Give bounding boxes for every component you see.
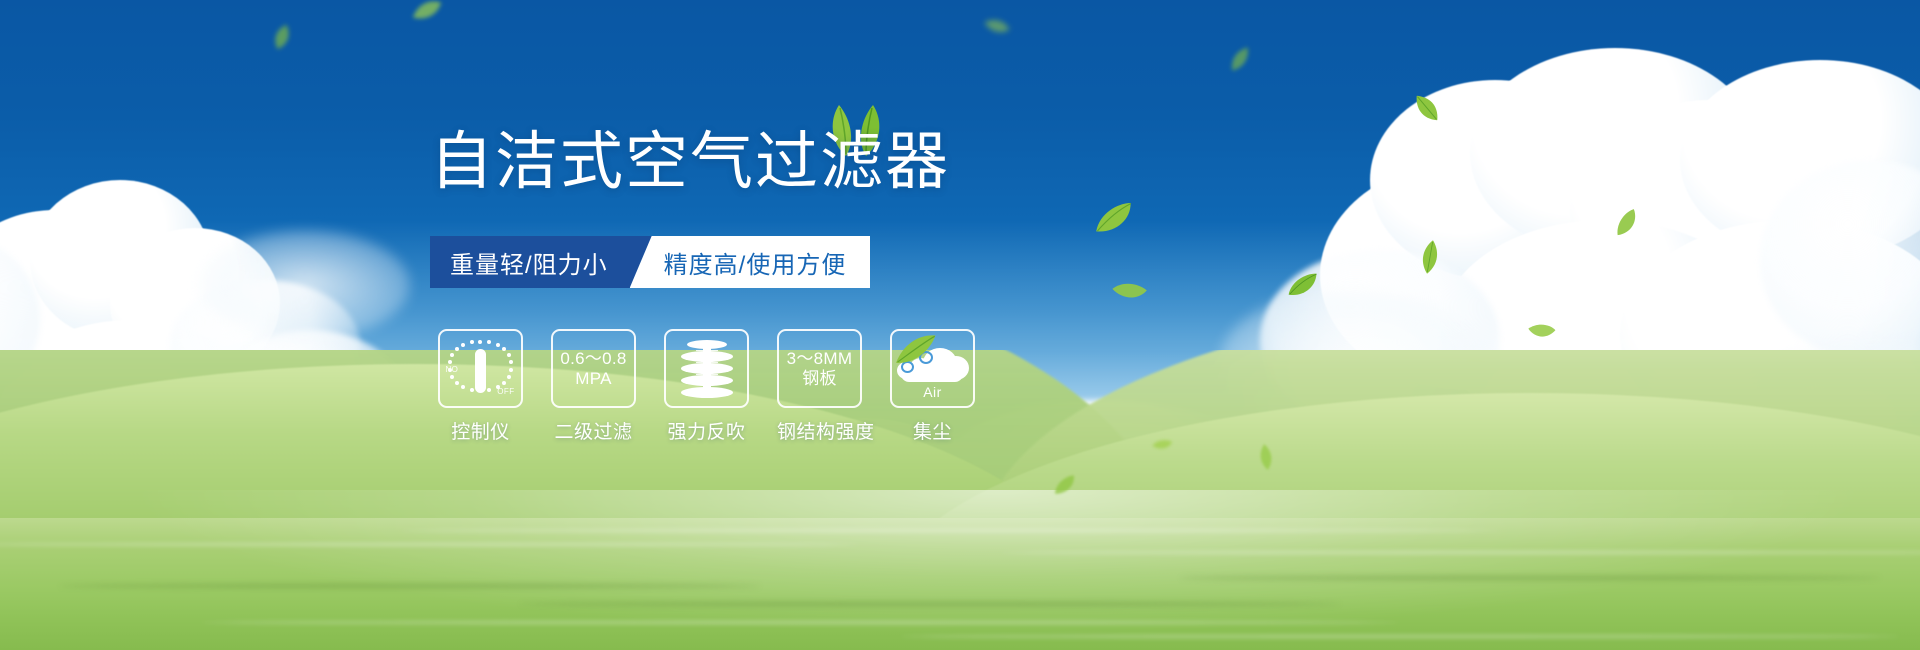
banner-content: 自洁式空气过滤器 重量轻/阻力小 精度高/使用方便 — [0, 0, 1920, 650]
subtitle-pill-secondary[interactable]: 精度高/使用方便 — [630, 236, 871, 288]
gauge-label-off: OFF — [497, 387, 514, 396]
feature-box-control: NO OFF — [438, 329, 523, 408]
steel-plate-text-icon: 3～8MM 钢板 — [787, 349, 853, 388]
feature-box-blowback — [664, 329, 749, 408]
feature-caption-control: 控制仪 — [438, 417, 523, 444]
banner-stage: 自洁式空气过滤器 重量轻/阻力小 精度高/使用方便 — [0, 0, 1920, 650]
steel-line-2: 钢板 — [787, 369, 853, 389]
gauge-label-no: NO — [446, 365, 459, 374]
subtitle-pill-secondary-label: 精度高/使用方便 — [664, 245, 847, 280]
filter-coil-icon — [679, 338, 735, 400]
feature-item-control[interactable]: NO OFF 控制仪 — [438, 329, 523, 444]
feature-caption-dust: 集尘 — [890, 417, 975, 444]
pressure-line-1: 0.6～0.8 — [560, 349, 626, 369]
gauge-dial-icon: NO OFF — [447, 338, 515, 400]
feature-item-dust[interactable]: Air 集尘 — [890, 329, 975, 444]
feature-caption-pressure: 二级过滤 — [551, 417, 636, 444]
feature-item-steel[interactable]: 3～8MM 钢板 钢结构强度 — [777, 329, 862, 444]
feature-box-dust: Air — [890, 329, 975, 408]
subtitle-pill-group: 重量轻/阻力小 精度高/使用方便 — [430, 236, 870, 288]
pressure-text-icon: 0.6～0.8 MPA — [560, 349, 626, 388]
steel-line-1: 3～8MM — [787, 349, 853, 369]
feature-item-blowback[interactable]: 强力反吹 — [664, 329, 749, 444]
air-label: Air — [895, 384, 971, 400]
feature-list: NO OFF 控制仪 0.6～0.8 MPA 二级过滤 — [438, 329, 975, 444]
gauge-needle — [475, 349, 486, 393]
feature-box-steel: 3～8MM 钢板 — [777, 329, 862, 408]
pressure-line-2: MPA — [560, 369, 626, 389]
air-leaf-icon — [893, 334, 937, 366]
page-title: 自洁式空气过滤器 — [430, 131, 950, 194]
subtitle-pill-primary[interactable]: 重量轻/阻力小 — [430, 236, 652, 288]
feature-item-pressure[interactable]: 0.6～0.8 MPA 二级过滤 — [551, 329, 636, 444]
feature-caption-steel: 钢结构强度 — [777, 417, 862, 444]
subtitle-pill-primary-label: 重量轻/阻力小 — [450, 245, 608, 280]
feature-caption-blowback: 强力反吹 — [664, 417, 749, 444]
cloud-air-icon: Air — [895, 338, 971, 400]
feature-box-pressure: 0.6～0.8 MPA — [551, 329, 636, 408]
